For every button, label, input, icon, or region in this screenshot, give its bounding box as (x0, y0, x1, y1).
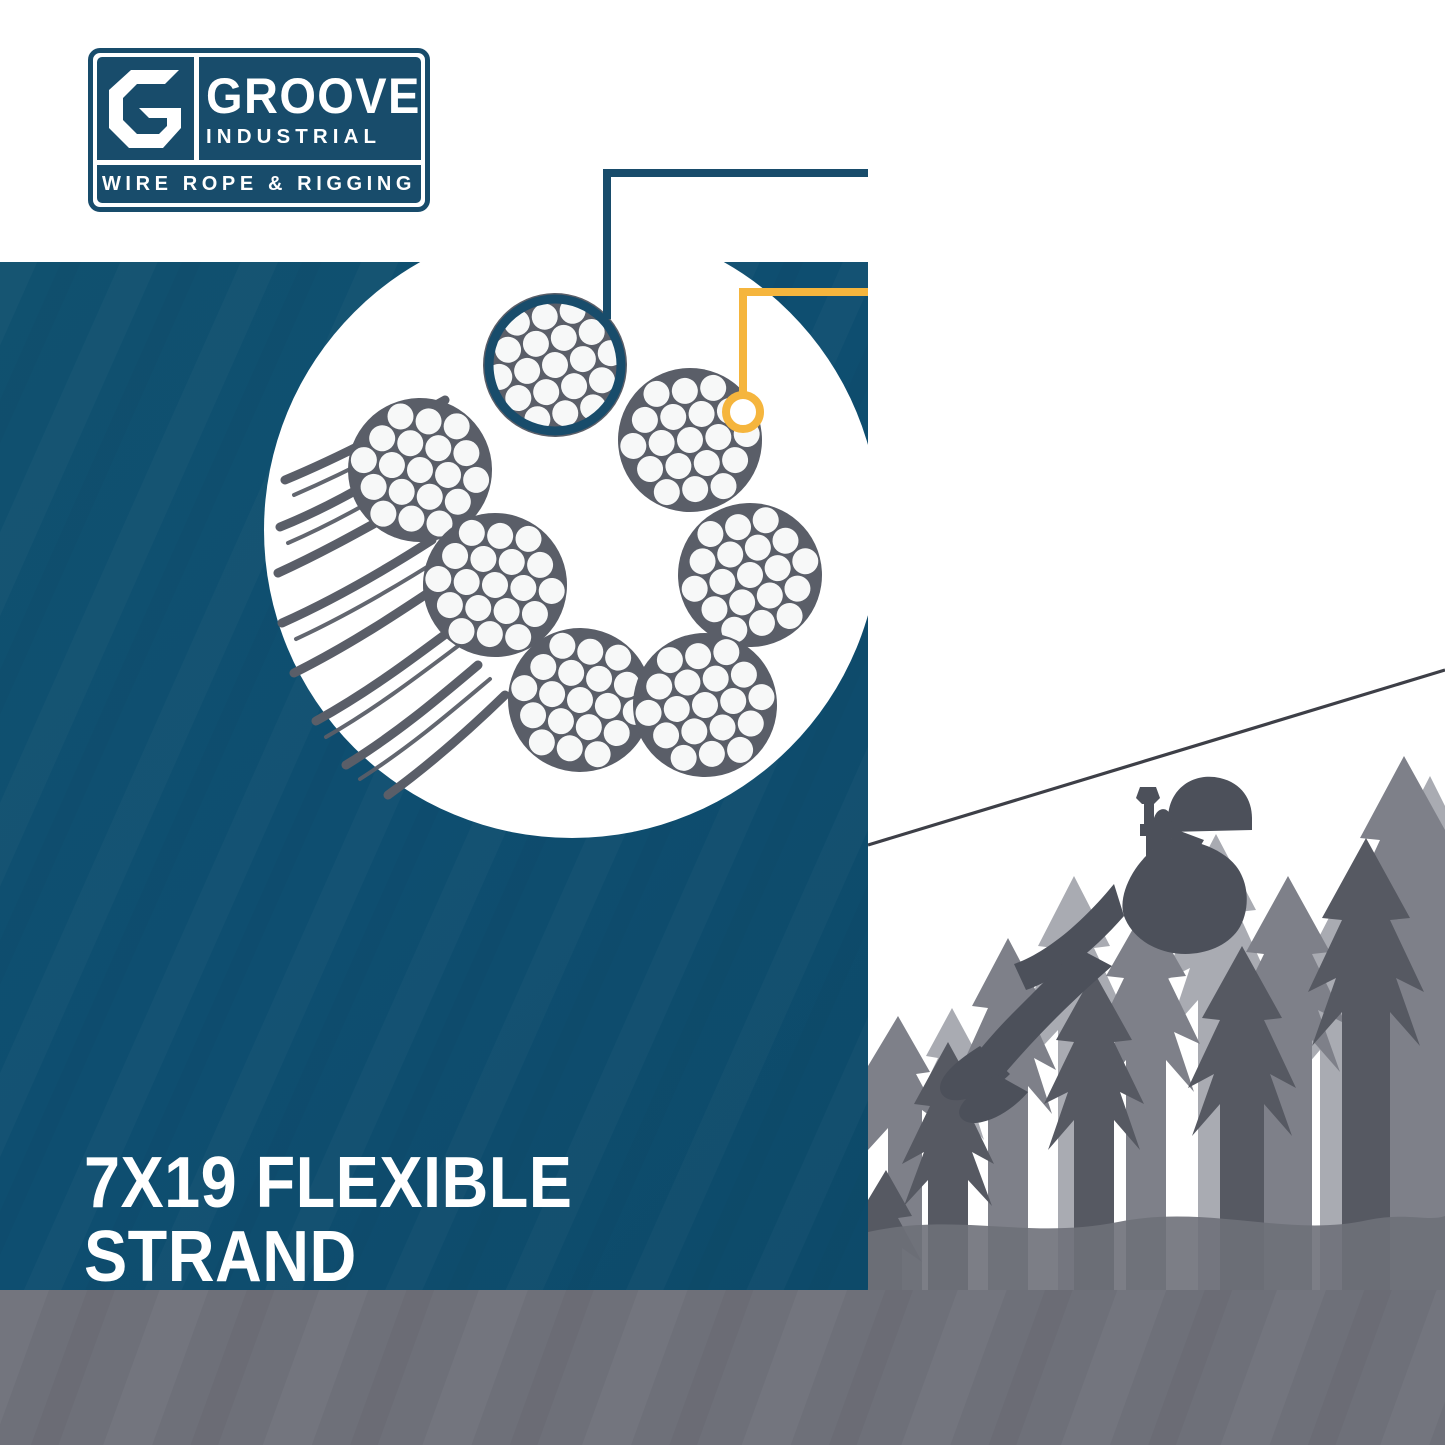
logo-tagline-text: WIRE ROPE & RIGGING (102, 173, 416, 196)
logo-name: GROOVE (206, 73, 405, 120)
page-headline: 7X19 FLEXIBLE STRAND CONSTRUCTION (84, 1146, 768, 1290)
bottom-bar-svg (0, 1290, 1445, 1445)
brand-logo[interactable]: GROOVE INDUSTRIAL WIRE ROPE & RIGGING (88, 48, 430, 212)
wire-anchor-ring (726, 395, 760, 429)
groove-g-mark-icon (107, 70, 187, 148)
logo-wordmark: GROOVE INDUSTRIAL (206, 66, 418, 156)
zipline-scene-svg (868, 0, 1445, 1290)
infographic-canvas: 7X19 FLEXIBLE STRAND CONSTRUCTION Our ai… (0, 0, 1445, 1445)
forest-ground-haze (868, 1216, 1445, 1290)
strand-7 (624, 624, 787, 787)
logo-vertical-divider (194, 57, 199, 160)
logo-tagline-bar: WIRE ROPE & RIGGING (97, 165, 421, 203)
zipline-scene (868, 0, 1445, 1290)
bottom-bar (0, 1290, 1445, 1445)
logo-subtitle: INDUSTRIAL (206, 125, 418, 149)
